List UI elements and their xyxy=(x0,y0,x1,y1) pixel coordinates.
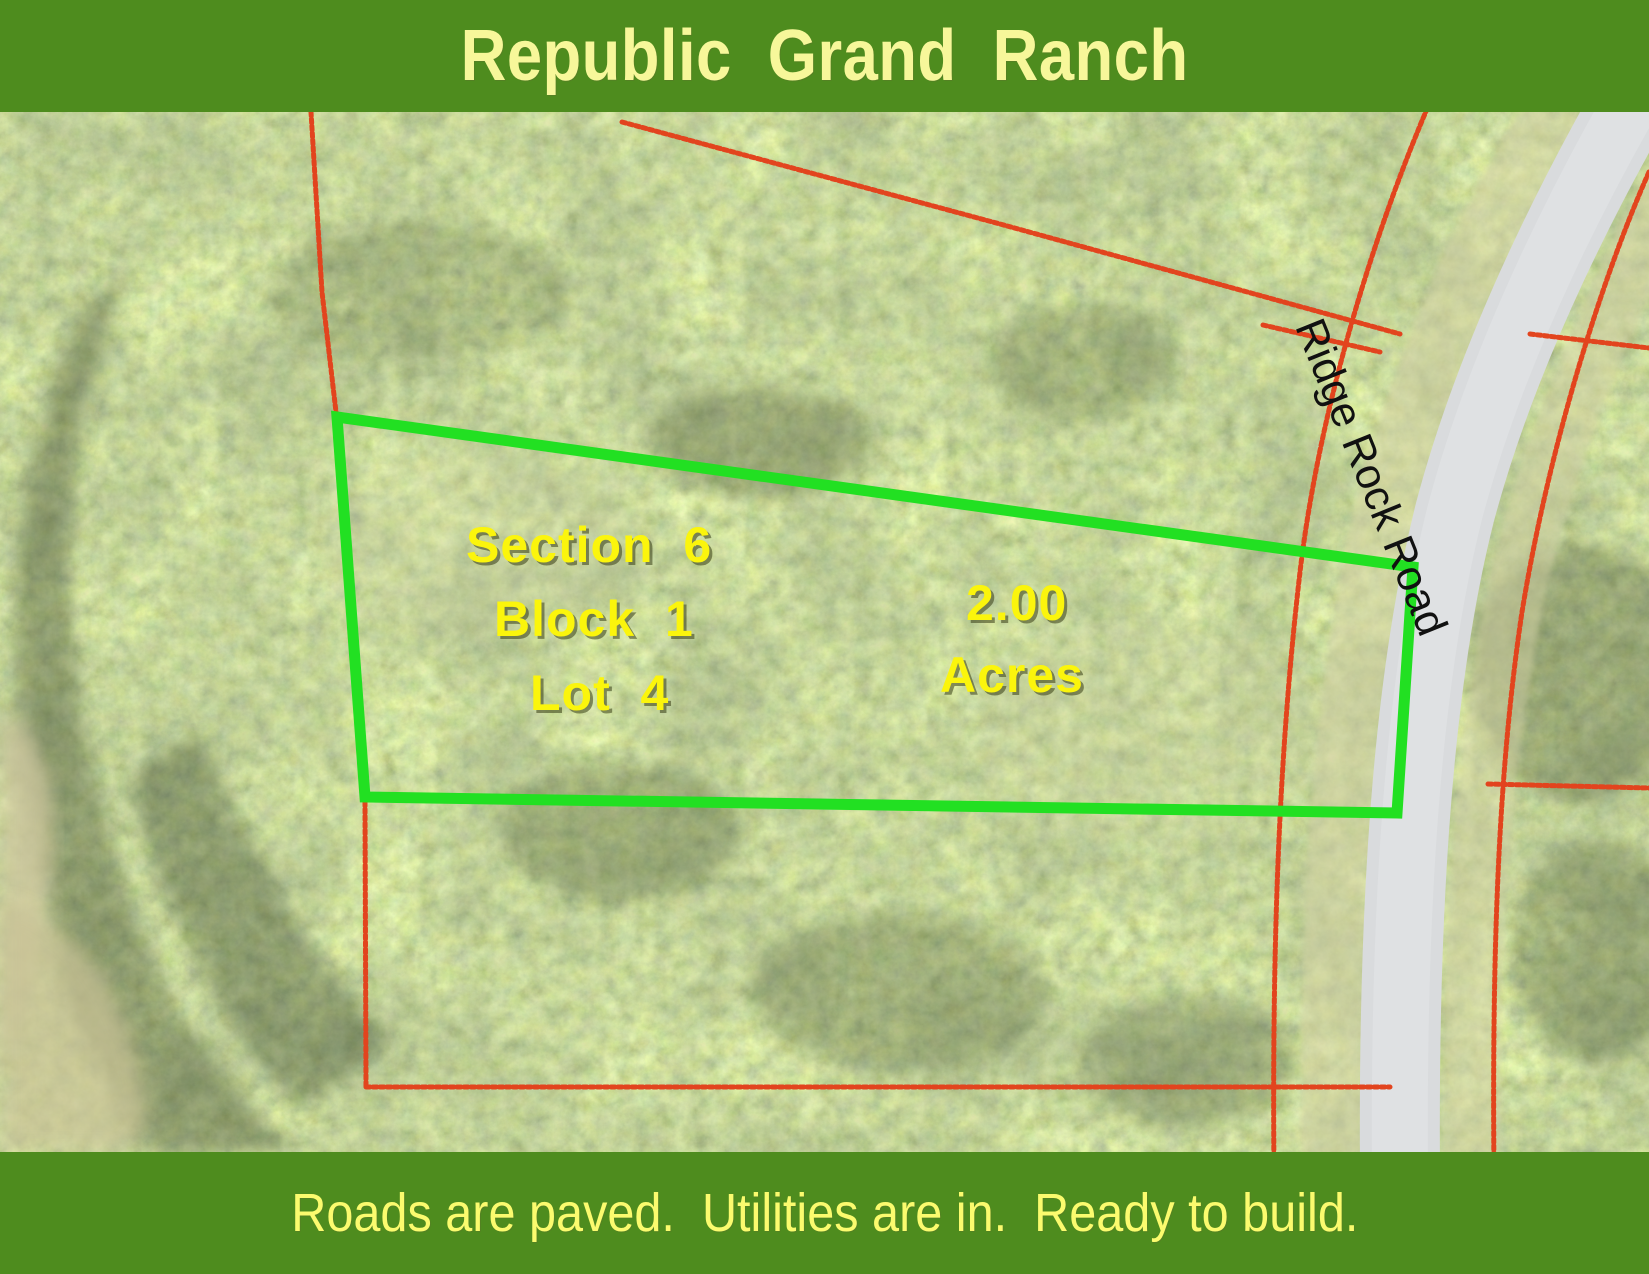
parcel-line-west-vertical-lower xyxy=(365,802,366,1087)
aerial-map-canvas xyxy=(0,112,1649,1152)
tree-cluster xyxy=(990,302,1170,422)
tree-cluster xyxy=(270,222,570,362)
tree-cluster xyxy=(500,762,740,902)
footer-tagline: Roads are paved. Utilities are in. Ready… xyxy=(291,1186,1358,1240)
page-title: Republic Grand Ranch xyxy=(461,20,1189,92)
listing-map-graphic: Republic Grand Ranch xyxy=(0,0,1649,1274)
footer-banner: Roads are paved. Utilities are in. Ready… xyxy=(0,1152,1649,1274)
tree-cluster xyxy=(1080,997,1300,1127)
aerial-map: Section 6 Block 1 Lot 4 2.00 Acres Ridge… xyxy=(0,112,1649,1152)
header-banner: Republic Grand Ranch xyxy=(0,0,1649,112)
light-clearing xyxy=(320,452,640,632)
tree-cluster xyxy=(750,912,1050,1072)
